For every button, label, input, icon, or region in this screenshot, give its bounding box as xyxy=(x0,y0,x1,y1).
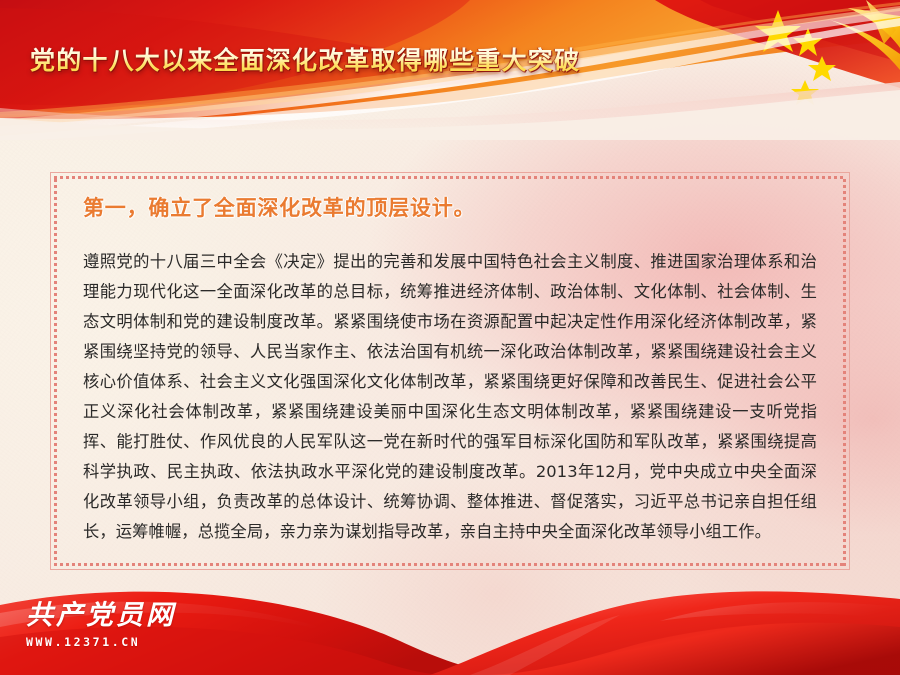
article-body-text: 遵照党的十八届三中全会《决定》提出的完善和发展中国特色社会主义制度、推进国家治理… xyxy=(83,247,817,547)
site-logo-url: WWW.12371.CN xyxy=(26,635,236,649)
section-heading: 第一，确立了全面深化改革的顶层设计。 xyxy=(83,196,817,221)
header-banner: 党的十八大以来全面深化改革取得哪些重大突破 xyxy=(0,0,900,140)
page-title: 党的十八大以来全面深化改革取得哪些重大突破 xyxy=(30,47,580,75)
page-root: 党的十八大以来全面深化改革取得哪些重大突破 第一，确立了全面深化改革的顶层设计。… xyxy=(0,0,900,675)
footer-banner: 共产党员网 WWW.12371.CN xyxy=(0,575,900,675)
panel-content: 第一，确立了全面深化改革的顶层设计。 遵照党的十八届三中全会《决定》提出的完善和… xyxy=(83,196,817,550)
site-logo-text: 共产党员网 xyxy=(26,602,236,629)
content-panel: 第一，确立了全面深化改革的顶层设计。 遵照党的十八届三中全会《决定》提出的完善和… xyxy=(50,172,850,570)
site-logo[interactable]: 共产党员网 WWW.12371.CN xyxy=(26,602,236,649)
